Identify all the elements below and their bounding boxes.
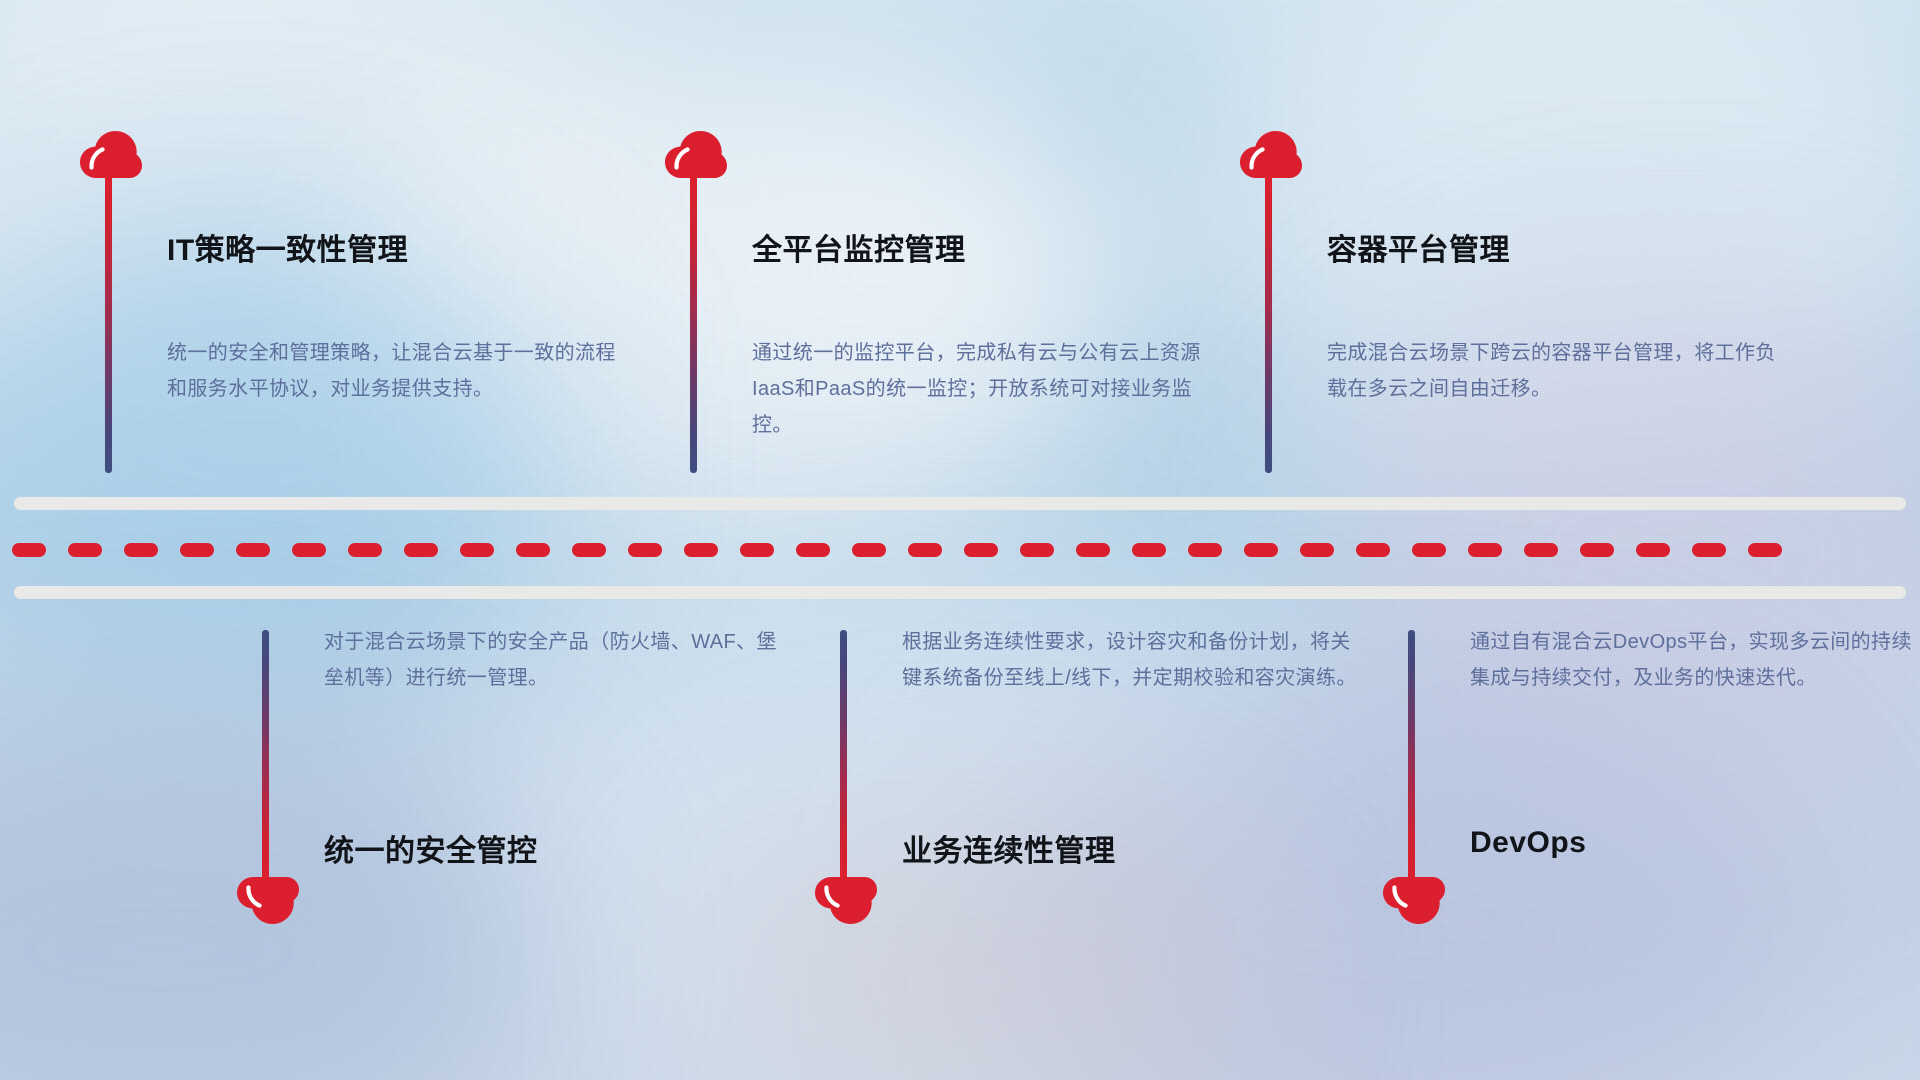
- road-dash: [572, 543, 606, 557]
- road-dash: [236, 543, 270, 557]
- card-description: 通过统一的监控平台，完成私有云与公有云上资源IaaS和PaaS的统一监控；开放系…: [752, 335, 1212, 443]
- road-dash: [740, 543, 774, 557]
- cloud-icon: [815, 876, 877, 924]
- connector-stem: [840, 630, 847, 880]
- road-dash: [1468, 543, 1502, 557]
- connector-stem: [105, 175, 112, 473]
- road-dash: [852, 543, 886, 557]
- road-dashed-centerline: [12, 543, 1908, 557]
- connector-stem: [1408, 630, 1415, 880]
- road-dash: [796, 543, 830, 557]
- card-title: IT策略一致性管理: [167, 225, 408, 269]
- road-dash: [1300, 543, 1334, 557]
- road-dash: [1748, 543, 1782, 557]
- road-dash: [124, 543, 158, 557]
- road-dash: [180, 543, 214, 557]
- road-line-upper: [14, 497, 1906, 510]
- road-dash: [908, 543, 942, 557]
- road-dash: [1188, 543, 1222, 557]
- road-dash: [1132, 543, 1166, 557]
- card-title: DevOps: [1470, 826, 1586, 860]
- cloud-icon: [237, 876, 299, 924]
- road-dash: [684, 543, 718, 557]
- road-dash: [1636, 543, 1670, 557]
- road-dash: [68, 543, 102, 557]
- card-description: 对于混合云场景下的安全产品（防火墙、WAF、堡垒机等）进行统一管理。: [324, 624, 784, 696]
- road-line-lower: [14, 586, 1906, 599]
- road-dash: [348, 543, 382, 557]
- road-dash: [1524, 543, 1558, 557]
- card-description: 统一的安全和管理策略，让混合云基于一致的流程和服务水平协议，对业务提供支持。: [167, 335, 627, 407]
- road-dash: [1356, 543, 1390, 557]
- connector-stem: [690, 175, 697, 473]
- cloud-icon: [80, 131, 142, 179]
- card-description: 完成混合云场景下跨云的容器平台管理，将工作负载在多云之间自由迁移。: [1327, 335, 1787, 407]
- road-dash: [404, 543, 438, 557]
- road-dash: [12, 543, 46, 557]
- cloud-icon: [1383, 876, 1445, 924]
- road-dash: [1020, 543, 1054, 557]
- road-dash: [964, 543, 998, 557]
- road-dash: [460, 543, 494, 557]
- road-dash: [628, 543, 662, 557]
- road-dash: [292, 543, 326, 557]
- road-dash: [1076, 543, 1110, 557]
- road-dash: [1580, 543, 1614, 557]
- road-dash: [1412, 543, 1446, 557]
- card-description: 根据业务连续性要求，设计容灾和备份计划，将关键系统备份至线上/线下，并定期校验和…: [902, 624, 1362, 696]
- road-dash: [516, 543, 550, 557]
- card-title: 统一的安全管控: [324, 826, 538, 870]
- card-title: 全平台监控管理: [752, 225, 966, 269]
- cloud-icon: [665, 131, 727, 179]
- card-description: 通过自有混合云DevOps平台，实现多云间的持续集成与持续交付，及业务的快速迭代…: [1470, 624, 1920, 696]
- road-dash: [1244, 543, 1278, 557]
- cloud-icon: [1240, 131, 1302, 179]
- card-title: 容器平台管理: [1327, 225, 1510, 269]
- infographic-canvas: IT策略一致性管理 统一的安全和管理策略，让混合云基于一致的流程和服务水平协议，…: [0, 0, 1920, 1080]
- road-dash: [1692, 543, 1726, 557]
- connector-stem: [262, 630, 269, 880]
- card-title: 业务连续性管理: [902, 826, 1116, 870]
- connector-stem: [1265, 175, 1272, 473]
